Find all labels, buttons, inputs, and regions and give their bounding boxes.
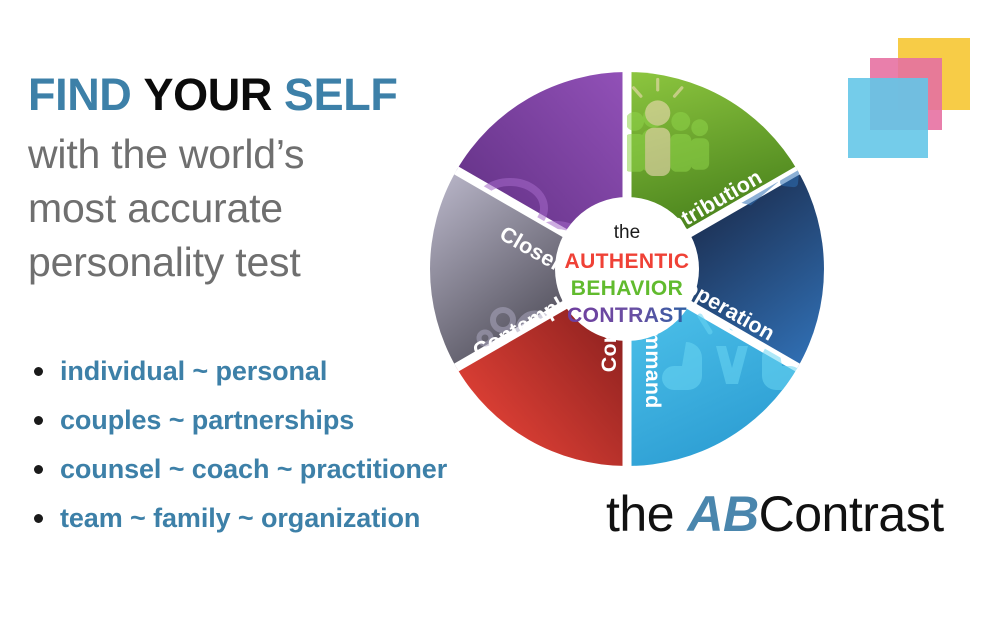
page-title: FIND YOUR SELF: [28, 68, 448, 123]
abcontrast-logo: [840, 28, 980, 168]
subheadline-line-2: most accurate: [28, 181, 448, 235]
headline-word-self: SELF: [284, 69, 397, 120]
headline-word-your: YOUR: [144, 69, 272, 120]
subheadline-line-3: personality test: [28, 235, 448, 289]
brand-ab: AB: [687, 486, 758, 542]
subheadline: with the world’s most accurate personali…: [28, 127, 448, 289]
brand-wordmark: the ABContrast: [606, 489, 944, 539]
list-item-label: couples ~ partnerships: [60, 405, 354, 435]
headline-space-1: [131, 69, 143, 120]
bullet-dot-icon: [34, 465, 43, 474]
personality-wheel-chart: Connection Contribution Cooperation Comm…: [424, 66, 830, 472]
hub-the: the: [614, 222, 640, 243]
list-item-label: team ~ family ~ organization: [60, 503, 420, 533]
poster-canvas: FIND YOUR SELF with the world’s most acc…: [0, 0, 1000, 630]
brand-the: the: [606, 486, 687, 542]
list-item-label: counsel ~ coach ~ practitioner: [60, 454, 447, 484]
bullet-dot-icon: [34, 416, 43, 425]
subheadline-line-1: with the world’s: [28, 127, 448, 181]
brand-rest: Contrast: [759, 486, 944, 542]
hub-behavior: BEHAVIOR: [571, 277, 684, 300]
list-item: team ~ family ~ organization: [28, 505, 588, 532]
cyan-square: [848, 78, 928, 158]
headline-space-2: [272, 69, 284, 120]
list-item-label: individual ~ personal: [60, 356, 327, 386]
bullet-dot-icon: [34, 367, 43, 376]
headline-block: FIND YOUR SELF with the world’s most acc…: [28, 68, 448, 289]
headline-word-find: FIND: [28, 69, 131, 120]
bullet-dot-icon: [34, 514, 43, 523]
hub-authentic: AUTHENTIC: [565, 250, 690, 273]
hub-contrast: CONTRAST: [567, 304, 687, 327]
